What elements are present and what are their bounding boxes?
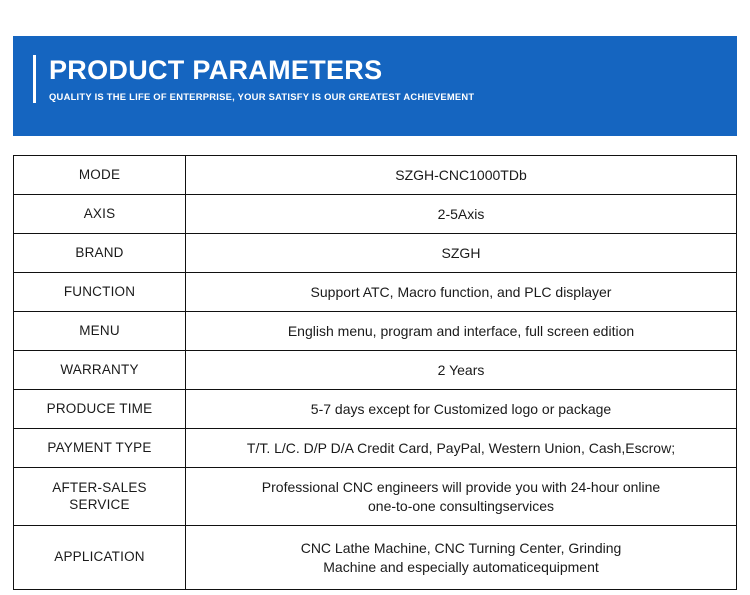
parameter-value: Professional CNC engineers will provide … <box>186 468 737 526</box>
value-line: SZGH-CNC1000TDb <box>194 166 728 184</box>
table-row: PAYMENT TYPE T/T. L/C. D/P D/A Credit Ca… <box>14 429 737 468</box>
parameter-label: FUNCTION <box>14 273 186 312</box>
parameter-value: 2 Years <box>186 351 737 390</box>
parameter-label: AXIS <box>14 195 186 234</box>
value-line: T/T. L/C. D/P D/A Credit Card, PayPal, W… <box>194 439 728 457</box>
parameter-label: APPLICATION <box>14 526 186 590</box>
parameter-value: SZGH-CNC1000TDb <box>186 156 737 195</box>
parameter-label: MENU <box>14 312 186 351</box>
value-line: 2-5Axis <box>194 205 728 223</box>
value-line: Support ATC, Macro function, and PLC dis… <box>194 283 728 301</box>
value-line: SZGH <box>194 244 728 262</box>
banner-text-group: PRODUCT PARAMETERS QUALITY IS THE LIFE O… <box>49 55 474 103</box>
parameter-label: PRODUCE TIME <box>14 390 186 429</box>
parameter-value: SZGH <box>186 234 737 273</box>
page-title: PRODUCT PARAMETERS <box>49 55 474 85</box>
parameter-label: BRAND <box>14 234 186 273</box>
table-row: APPLICATION CNC Lathe Machine, CNC Turni… <box>14 526 737 590</box>
parameter-label: MODE <box>14 156 186 195</box>
parameter-label: PAYMENT TYPE <box>14 429 186 468</box>
table-row: MENU English menu, program and interface… <box>14 312 737 351</box>
page-banner: PRODUCT PARAMETERS QUALITY IS THE LIFE O… <box>13 36 737 136</box>
value-line: CNC Lathe Machine, CNC Turning Center, G… <box>194 539 728 557</box>
value-line: Machine and especially automaticequipmen… <box>194 558 728 576</box>
product-parameters-table: MODE SZGH-CNC1000TDb AXIS 2-5Axis BRAND … <box>13 155 737 590</box>
value-line: 2 Years <box>194 361 728 379</box>
parameter-value: 5-7 days except for Customized logo or p… <box>186 390 737 429</box>
table-row: AFTER-SALES SERVICE Professional CNC eng… <box>14 468 737 526</box>
value-line: English menu, program and interface, ful… <box>194 322 728 340</box>
table-row: PRODUCE TIME 5-7 days except for Customi… <box>14 390 737 429</box>
table-row: BRAND SZGH <box>14 234 737 273</box>
parameter-value: Support ATC, Macro function, and PLC dis… <box>186 273 737 312</box>
banner-accent-bar <box>33 55 36 103</box>
page-subtitle: QUALITY IS THE LIFE OF ENTERPRISE, YOUR … <box>49 91 474 102</box>
value-line: Professional CNC engineers will provide … <box>194 478 728 496</box>
label-line: AFTER-SALES <box>22 480 177 497</box>
table-row: MODE SZGH-CNC1000TDb <box>14 156 737 195</box>
table-row: FUNCTION Support ATC, Macro function, an… <box>14 273 737 312</box>
value-line: 5-7 days except for Customized logo or p… <box>194 400 728 418</box>
banner-content: PRODUCT PARAMETERS QUALITY IS THE LIFE O… <box>33 55 474 103</box>
table-row: WARRANTY 2 Years <box>14 351 737 390</box>
parameter-label: AFTER-SALES SERVICE <box>14 468 186 526</box>
parameter-value: 2-5Axis <box>186 195 737 234</box>
table-row: AXIS 2-5Axis <box>14 195 737 234</box>
parameter-value: English menu, program and interface, ful… <box>186 312 737 351</box>
value-line: one-to-one consultingservices <box>194 497 728 515</box>
parameter-value: T/T. L/C. D/P D/A Credit Card, PayPal, W… <box>186 429 737 468</box>
parameter-label: WARRANTY <box>14 351 186 390</box>
label-line: SERVICE <box>22 497 177 514</box>
parameter-value: CNC Lathe Machine, CNC Turning Center, G… <box>186 526 737 590</box>
product-parameters-page: PRODUCT PARAMETERS QUALITY IS THE LIFE O… <box>0 0 750 595</box>
table-body: MODE SZGH-CNC1000TDb AXIS 2-5Axis BRAND … <box>14 156 737 590</box>
